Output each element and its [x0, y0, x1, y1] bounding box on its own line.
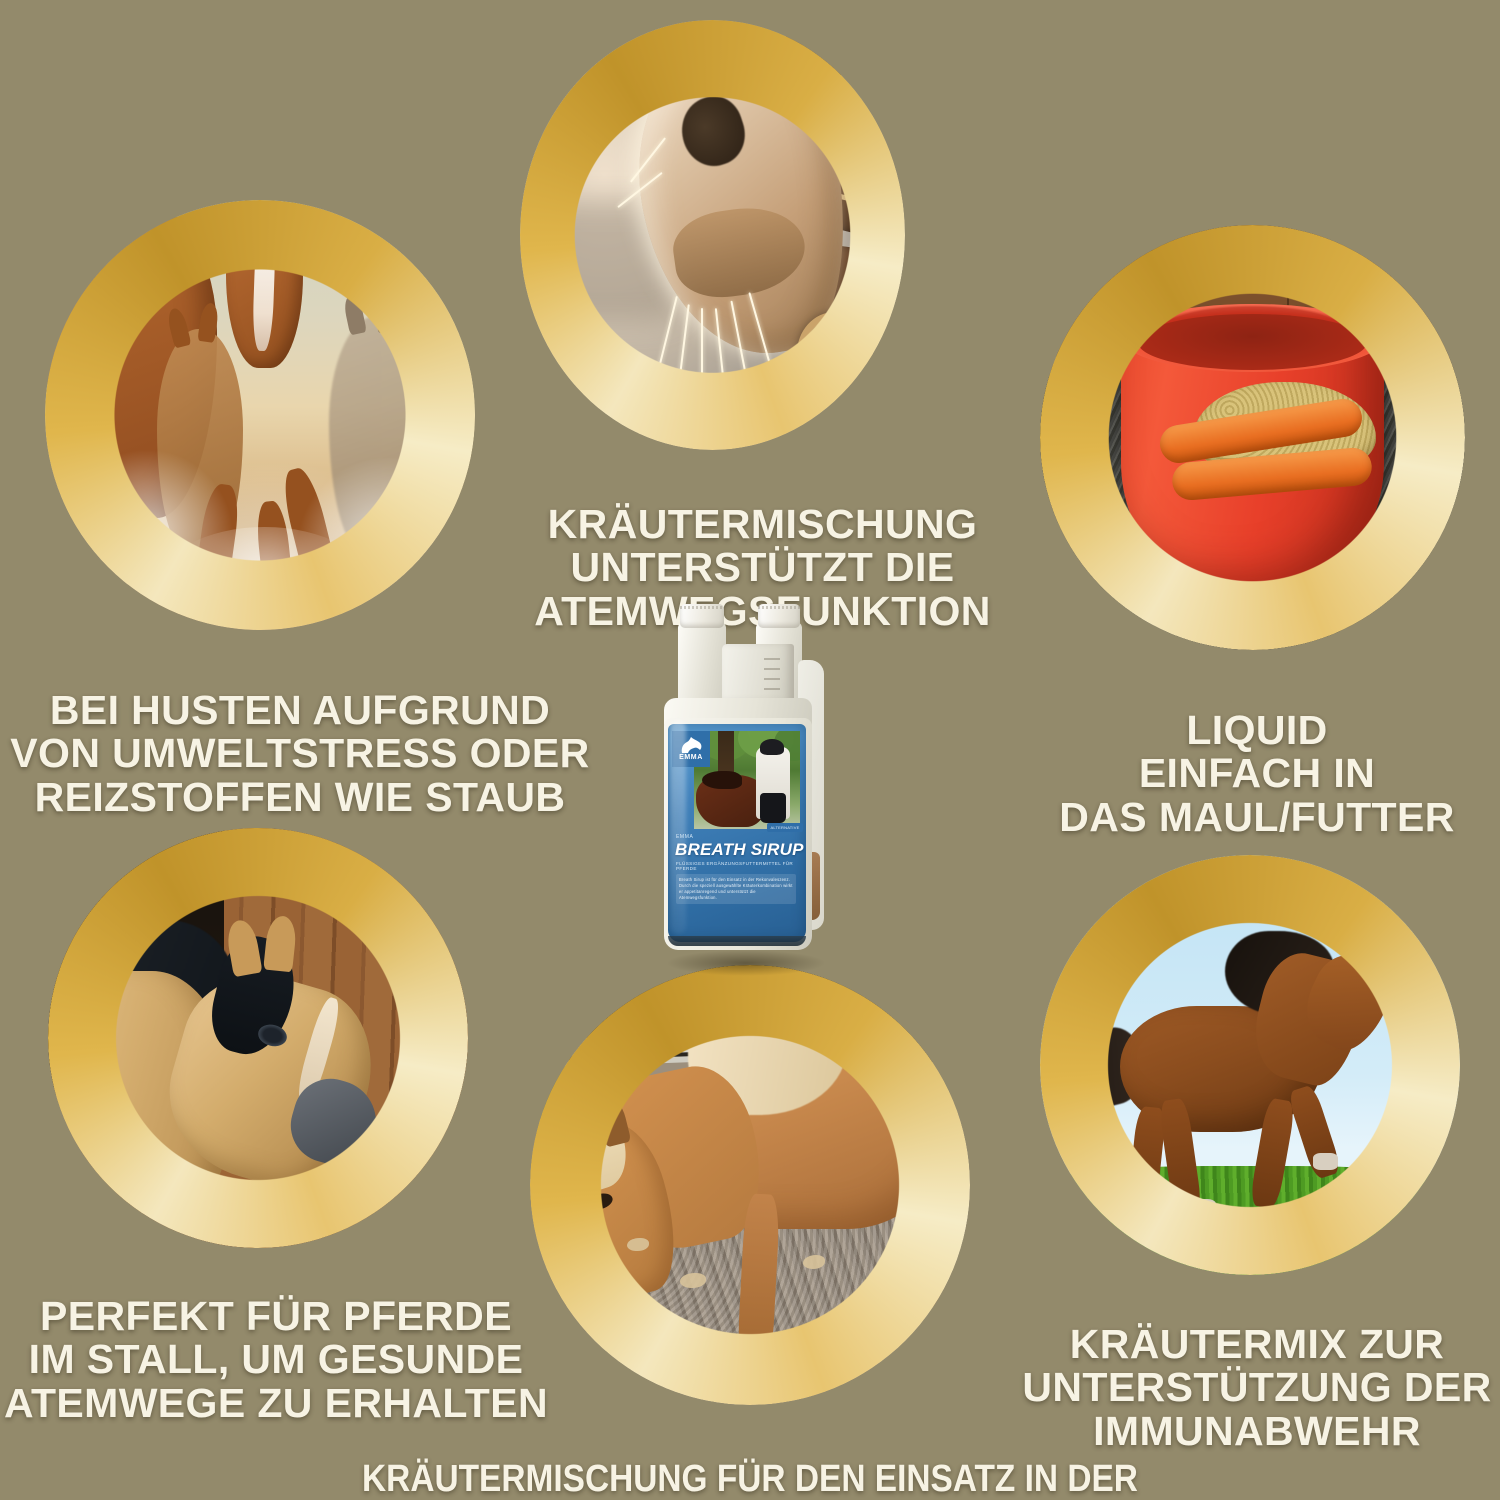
photo-galloping-horses: [45, 200, 475, 630]
caption-liquid: LIQUID EINFACH IN DAS MAUL/FUTTER: [1022, 709, 1492, 839]
photo-horse-meadow: [1040, 855, 1460, 1275]
label-badge-text: ALTERNATIVE: [767, 823, 803, 832]
label-description-text: Breath Sirup ist für den Einsatz in der …: [679, 877, 793, 901]
dosing-chamber: [722, 644, 794, 706]
bottle-cap-left[interactable]: [680, 604, 724, 628]
photo-horse-muzzle-image: [520, 20, 905, 450]
product-bottle[interactable]: EMMA ALTERNATIVE EMMA BREATH SIRUP FLÜSS…: [660, 600, 840, 970]
emma-logo: EMMA: [672, 731, 710, 767]
photo-feed-bucket-image: [1040, 225, 1465, 650]
bottle-label: EMMA ALTERNATIVE EMMA BREATH SIRUP FLÜSS…: [668, 724, 806, 942]
footer-caption: KRÄUTERMISCHUNG FÜR DEN EINSATZ IN DER R…: [90, 1458, 1410, 1500]
emma-logo-text: EMMA: [679, 754, 703, 762]
photo-horse-stable-door: [48, 828, 468, 1248]
photo-horse-grazing-image: [530, 965, 970, 1405]
photo-horse-grazing: [530, 965, 970, 1405]
caption-cough: BEI HUSTEN AUFGRUND VON UMWELTSTRESS ODE…: [0, 689, 600, 819]
caption-stable: PERFEKT FÜR PFERDE IM STALL, UM GESUNDE …: [0, 1295, 552, 1425]
photo-horse-meadow-image: [1040, 855, 1460, 1275]
photo-horse-muzzle: [520, 20, 905, 450]
label-product-subtitle: FLÜSSIGES ERGÄNZUNGSFUTTERMITTEL FÜR PFE…: [676, 861, 806, 871]
label-product-title: BREATH SIRUP: [675, 840, 804, 860]
photo-galloping-horses-image: [45, 200, 475, 630]
bottle-cap-right[interactable]: [758, 604, 800, 628]
label-description-box: Breath Sirup ist für den Einsatz in der …: [676, 874, 796, 904]
photo-horse-stable-door-image: [48, 828, 468, 1248]
bottle-shadow: [666, 950, 826, 976]
photo-feed-bucket: [1040, 225, 1465, 650]
label-badge: ALTERNATIVE: [767, 823, 803, 832]
infographic-canvas: BEI HUSTEN AUFGRUND VON UMWELTSTRESS ODE…: [0, 0, 1500, 1500]
bottle-base: [668, 936, 806, 946]
caption-immune: KRÄUTERMIX ZUR UNTERSTÜTZUNG DER IMMUNAB…: [1022, 1323, 1492, 1453]
bottle-neck-left: [678, 622, 726, 706]
horse-head-icon: [678, 736, 704, 754]
